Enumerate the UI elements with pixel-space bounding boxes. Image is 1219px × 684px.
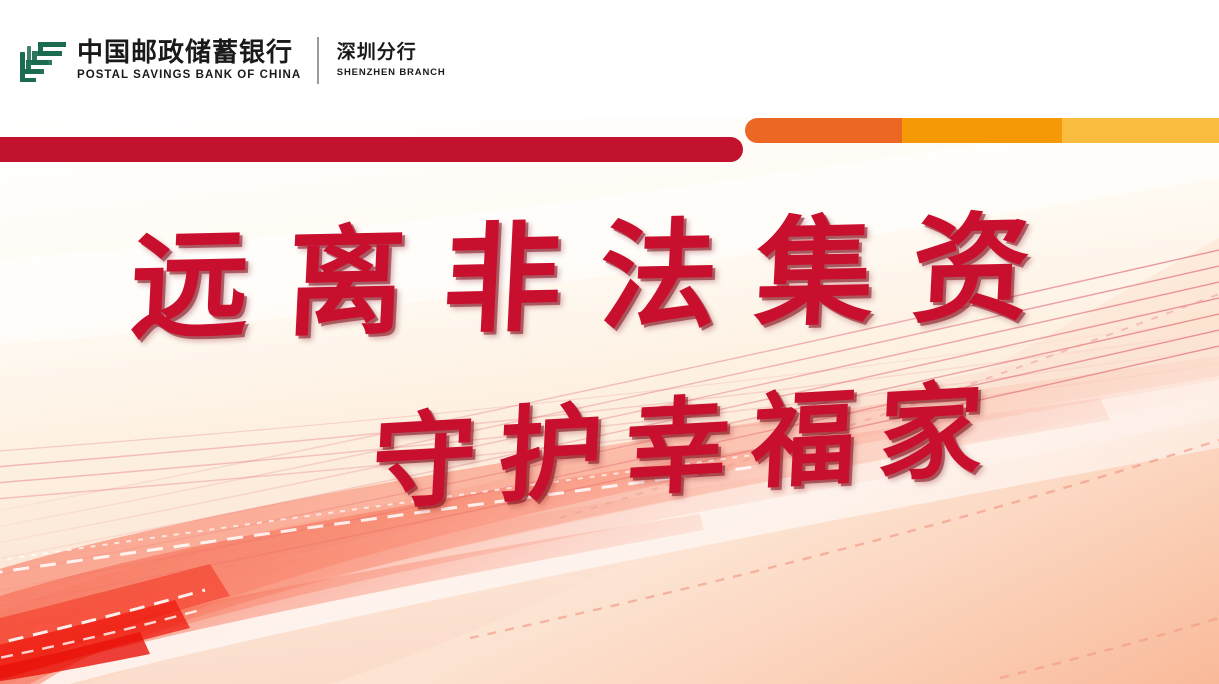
brand-lockup: 中国邮政储蓄银行 POSTAL SAVINGS BANK OF CHINA 深圳…	[18, 37, 446, 84]
branch-name-cn: 深圳分行	[337, 42, 446, 64]
header: 中国邮政储蓄银行 POSTAL SAVINGS BANK OF CHINA 深圳…	[0, 0, 1219, 118]
red-banner-bar	[0, 137, 743, 162]
poster-canvas: 远离非法集资 守护幸福家	[0, 0, 1219, 684]
branch-name-en: SHENZHEN BRANCH	[337, 67, 446, 78]
psbc-logo-mark-icon	[18, 40, 68, 82]
banner-segment-amber	[1062, 118, 1219, 143]
banner-segment-orange	[902, 118, 1062, 143]
background-artwork	[0, 118, 1219, 684]
brand-text: 中国邮政储蓄银行 POSTAL SAVINGS BANK OF CHINA	[77, 39, 301, 83]
brand-divider	[317, 37, 319, 84]
bank-name-en: POSTAL SAVINGS BANK OF CHINA	[77, 69, 301, 83]
orange-banner-bar	[745, 118, 1219, 143]
branch-text: 深圳分行 SHENZHEN BRANCH	[337, 42, 446, 78]
banner-segment-orange-red	[745, 118, 902, 143]
bank-name-cn: 中国邮政储蓄银行	[77, 39, 301, 67]
